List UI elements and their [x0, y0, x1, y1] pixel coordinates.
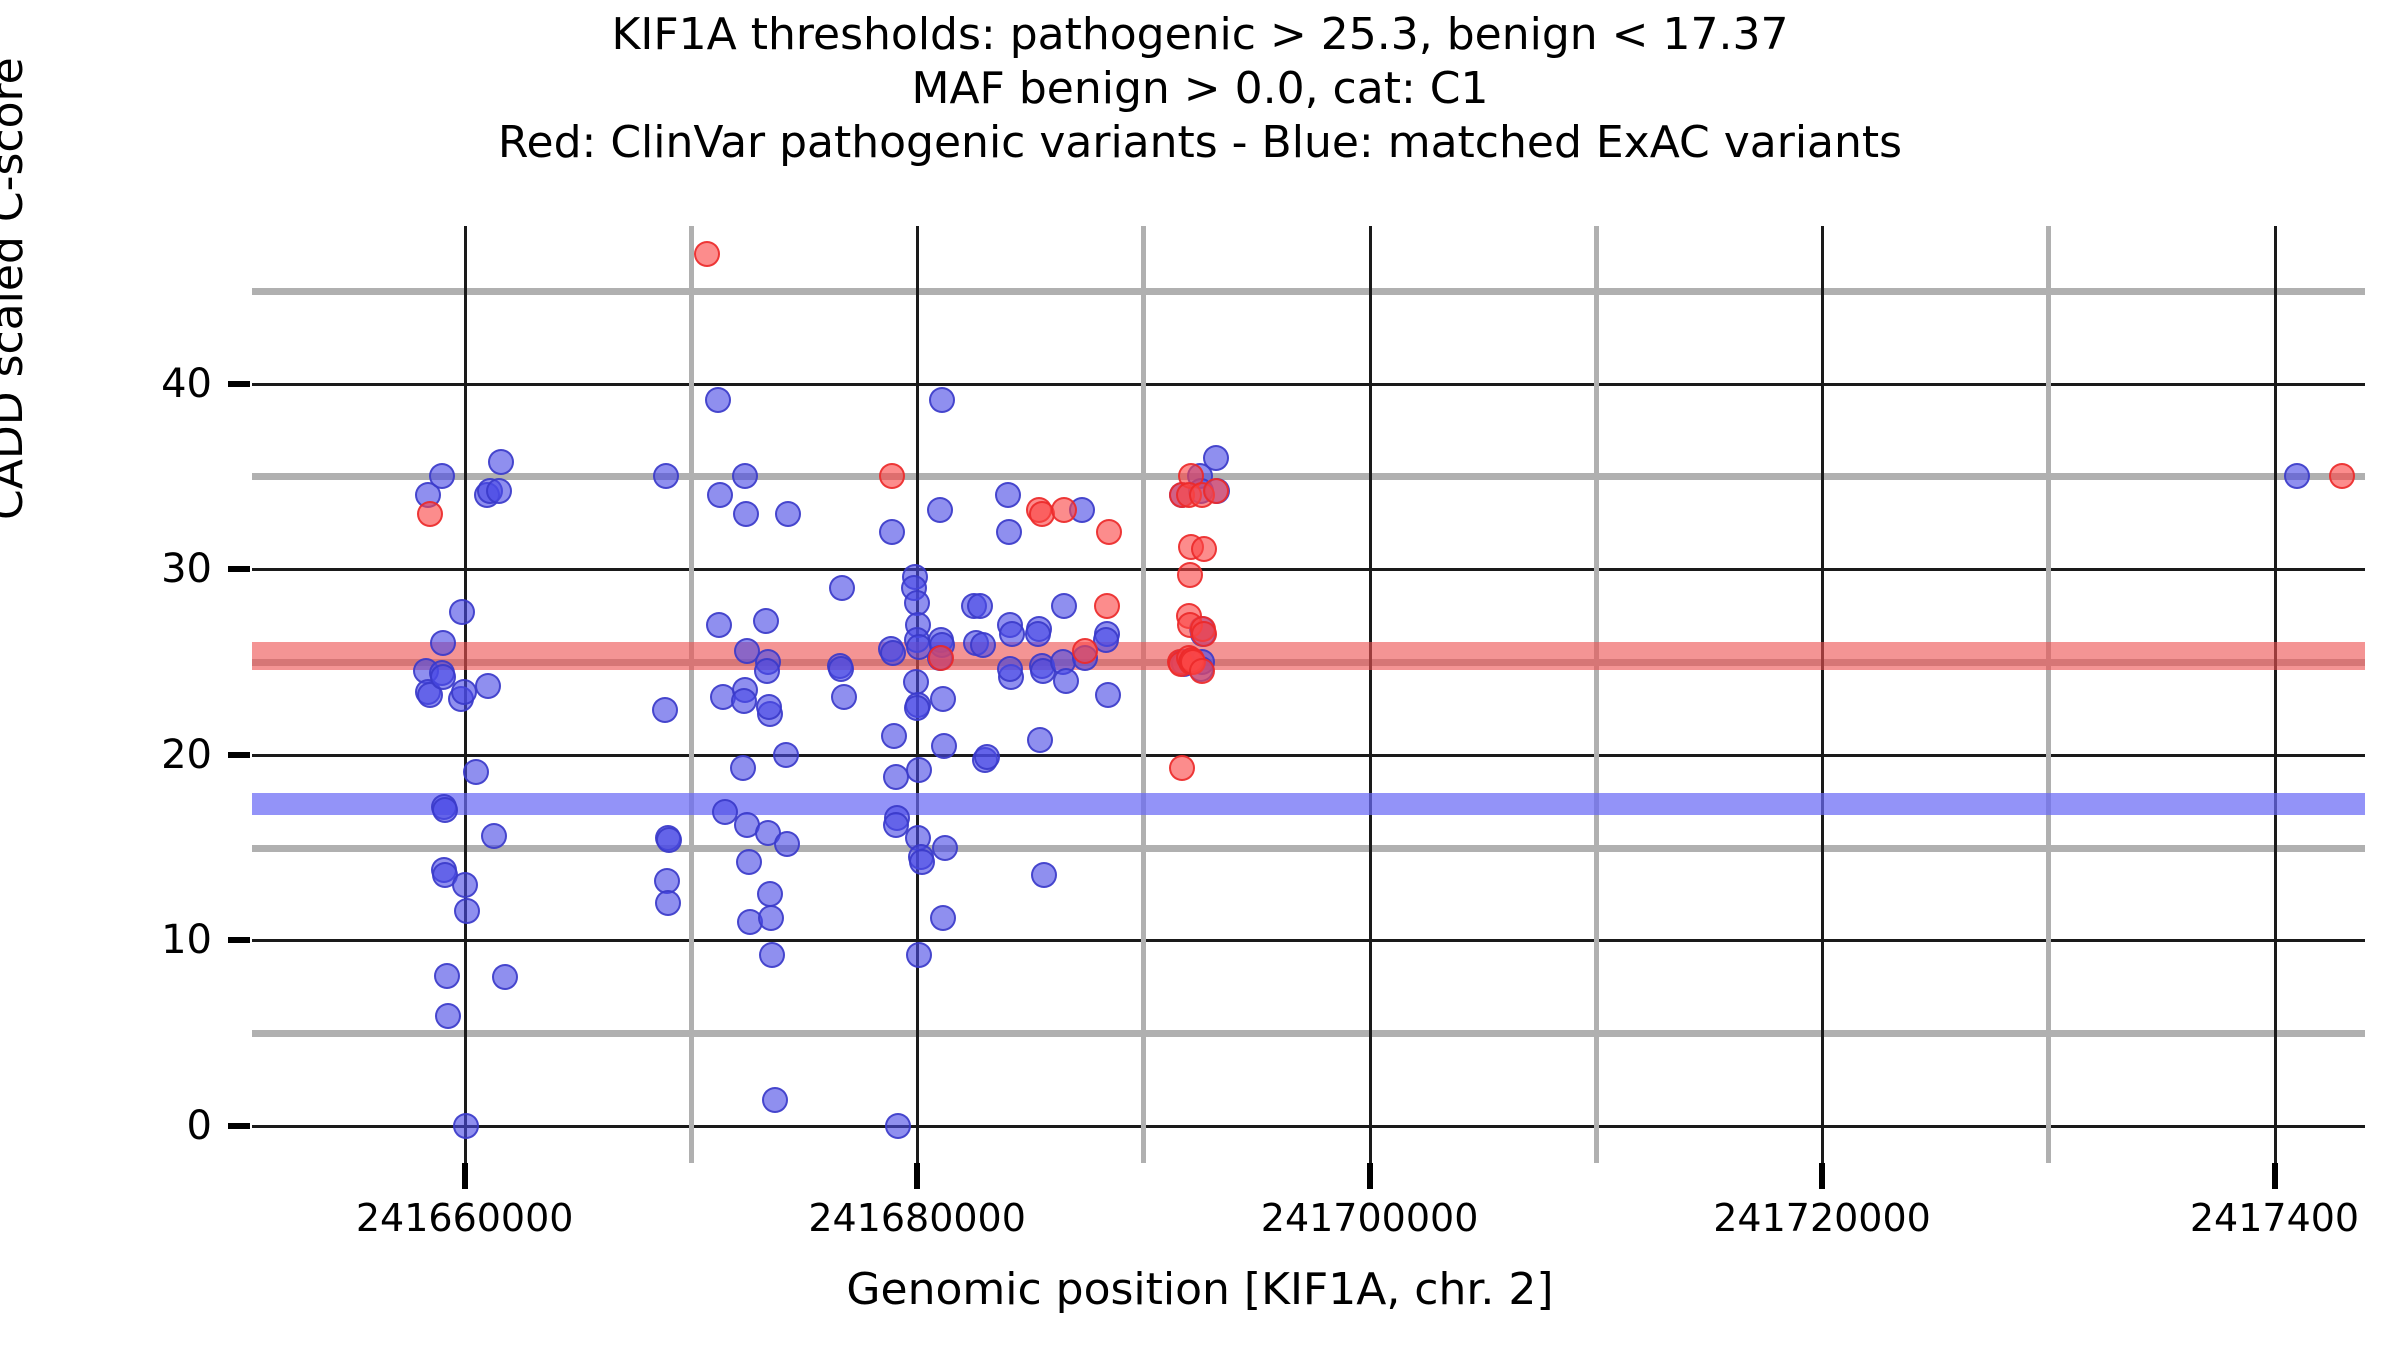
data-point-exac: [732, 463, 758, 489]
data-point-clinvar: [1189, 658, 1215, 684]
data-point-exac: [880, 640, 906, 666]
data-point-exac: [757, 881, 783, 907]
data-point-exac: [756, 694, 782, 720]
y-tick-mark: [228, 566, 250, 572]
data-point-exac: [432, 797, 458, 823]
threshold-band-pathogenic: [252, 642, 2365, 670]
data-point-clinvar: [1177, 562, 1203, 588]
x-tick-mark: [2272, 1163, 2278, 1189]
data-point-exac: [454, 898, 480, 924]
data-point-exac: [1027, 727, 1053, 753]
data-point-exac: [883, 764, 909, 790]
data-point-exac: [453, 1113, 479, 1139]
y-tick-mark: [228, 1123, 250, 1129]
data-point-exac: [2284, 463, 2310, 489]
data-point-exac: [486, 478, 512, 504]
data-point-exac: [758, 905, 784, 931]
data-point-exac: [1051, 593, 1077, 619]
data-point-exac: [707, 482, 733, 508]
y-tick-label: 10: [161, 917, 212, 963]
data-point-exac: [475, 673, 501, 699]
x-tick-label: 241720000: [1713, 1196, 1931, 1240]
y-tick-mark: [228, 937, 250, 943]
y-tick-mark: [228, 752, 250, 758]
plot-area: [252, 226, 2365, 1163]
data-point-exac: [1095, 682, 1121, 708]
x-gridline-major: [1821, 226, 1824, 1163]
data-point-exac: [906, 757, 932, 783]
data-point-clinvar: [1051, 497, 1077, 523]
data-point-clinvar: [1203, 478, 1229, 504]
data-point-exac: [733, 501, 759, 527]
data-point-exac: [931, 733, 957, 759]
data-point-clinvar: [879, 463, 905, 489]
data-point-exac: [753, 608, 779, 634]
x-tick-label: 2417400: [2190, 1196, 2359, 1240]
data-point-exac: [492, 964, 518, 990]
data-point-exac: [655, 890, 681, 916]
data-point-exac: [429, 463, 455, 489]
x-tick-mark: [1367, 1163, 1373, 1189]
title-line-1: KIF1A thresholds: pathogenic > 25.3, ben…: [0, 8, 2400, 62]
data-point-exac: [974, 744, 1000, 770]
data-point-exac: [775, 501, 801, 527]
chart-canvas: KIF1A thresholds: pathogenic > 25.3, ben…: [0, 0, 2400, 1350]
data-point-exac: [731, 688, 757, 714]
data-point-exac: [762, 1087, 788, 1113]
data-point-exac: [879, 519, 905, 545]
data-point-exac: [829, 575, 855, 601]
data-point-exac: [909, 849, 935, 875]
data-point-exac: [904, 695, 930, 721]
title-line-3: Red: ClinVar pathogenic variants - Blue:…: [0, 116, 2400, 170]
data-point-exac: [736, 849, 762, 875]
x-tick-label: 241680000: [808, 1196, 1026, 1240]
data-point-exac: [1203, 445, 1229, 471]
data-point-clinvar: [928, 645, 954, 671]
data-point-exac: [435, 1003, 461, 1029]
x-gridline-minor: [2046, 226, 2051, 1163]
y-tick-mark: [228, 381, 250, 387]
data-point-exac: [995, 482, 1021, 508]
data-point-exac: [906, 942, 932, 968]
data-point-exac: [754, 658, 780, 684]
data-point-exac: [705, 387, 731, 413]
y-tick-label: 40: [161, 361, 212, 407]
y-axis-label: CADD scaled C-score: [0, 57, 33, 520]
data-point-clinvar: [2329, 463, 2355, 489]
data-point-clinvar: [1191, 536, 1217, 562]
data-point-exac: [653, 463, 679, 489]
data-point-exac: [831, 684, 857, 710]
data-point-exac: [652, 697, 678, 723]
data-point-exac: [463, 759, 489, 785]
x-tick-mark: [1819, 1163, 1825, 1189]
data-point-exac: [773, 742, 799, 768]
data-point-exac: [452, 872, 478, 898]
data-point-exac: [434, 963, 460, 989]
x-tick-label: 241700000: [1261, 1196, 1479, 1240]
data-point-exac: [759, 942, 785, 968]
data-point-clinvar: [1094, 593, 1120, 619]
title-line-2: MAF benign > 0.0, cat: C1: [0, 62, 2400, 116]
data-point-exac: [932, 835, 958, 861]
data-point-exac: [449, 599, 475, 625]
data-point-exac: [881, 723, 907, 749]
data-point-exac: [730, 755, 756, 781]
x-gridline-major: [1369, 226, 1372, 1163]
x-gridline-major: [2274, 226, 2277, 1163]
data-point-exac: [996, 519, 1022, 545]
data-point-exac: [885, 1113, 911, 1139]
data-point-clinvar: [1072, 638, 1098, 664]
data-point-exac: [930, 905, 956, 931]
threshold-band-benign: [252, 793, 2365, 815]
data-point-exac: [927, 497, 953, 523]
x-tick-mark: [914, 1163, 920, 1189]
x-gridline-minor: [1141, 226, 1146, 1163]
y-tick-label: 30: [161, 546, 212, 592]
data-point-clinvar: [1096, 519, 1122, 545]
data-point-clinvar: [417, 501, 443, 527]
data-point-exac: [828, 656, 854, 682]
data-point-exac: [451, 679, 477, 705]
x-tick-mark: [462, 1163, 468, 1189]
x-gridline-minor: [689, 226, 694, 1163]
data-point-exac: [967, 593, 993, 619]
data-point-exac: [1031, 862, 1057, 888]
data-point-exac: [706, 612, 732, 638]
y-tick-label: 20: [161, 732, 212, 778]
x-gridline-minor: [1594, 226, 1599, 1163]
chart-title: KIF1A thresholds: pathogenic > 25.3, ben…: [0, 8, 2400, 170]
x-tick-label: 241660000: [356, 1196, 574, 1240]
y-tick-label: 0: [187, 1103, 212, 1149]
data-point-exac: [929, 387, 955, 413]
data-point-exac: [930, 686, 956, 712]
data-point-clinvar: [1169, 755, 1195, 781]
data-point-exac: [970, 632, 996, 658]
data-point-clinvar: [694, 241, 720, 267]
x-axis-label: Genomic position [KIF1A, chr. 2]: [0, 1264, 2400, 1315]
data-point-exac: [488, 449, 514, 475]
data-point-exac: [1053, 668, 1079, 694]
data-point-exac: [774, 831, 800, 857]
